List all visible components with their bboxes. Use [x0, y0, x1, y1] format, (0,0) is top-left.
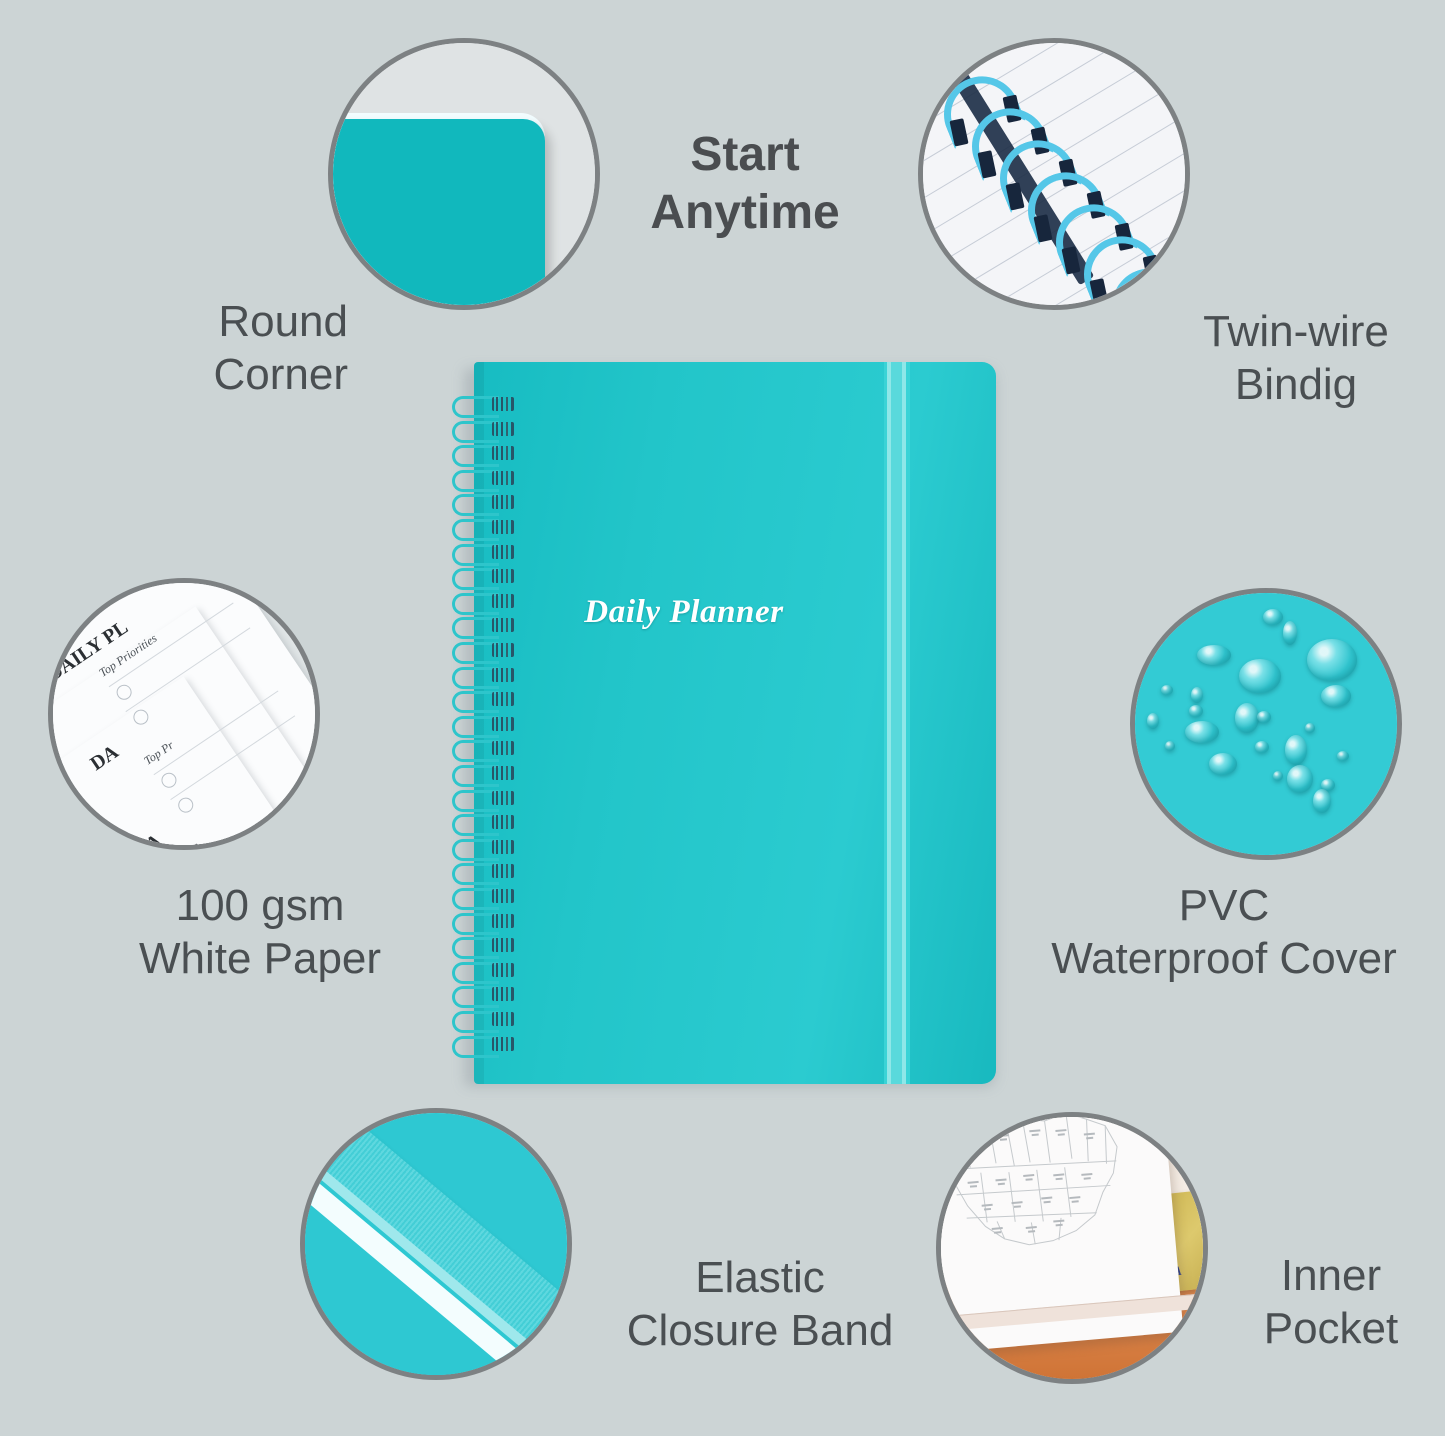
coil-crimp	[492, 495, 514, 509]
spiral-coil-ring	[452, 740, 512, 756]
round-corner-icon	[328, 38, 600, 310]
coil-crimp	[492, 446, 514, 460]
us-map-illustration	[936, 1112, 1138, 1270]
spiral-coil-ring	[452, 568, 512, 584]
spiral-coil-ring	[452, 421, 512, 437]
spiral-coil-ring	[452, 986, 512, 1002]
water-droplet	[1185, 721, 1219, 743]
water-droplet	[1239, 659, 1281, 693]
coil-crimp	[492, 938, 514, 952]
water-droplet	[1287, 765, 1313, 793]
notebook-spiral-binding	[452, 396, 516, 1062]
sheet-subheading: Top Pr	[141, 738, 176, 769]
water-droplet	[1165, 741, 1175, 751]
spiral-coil-ring	[452, 494, 512, 510]
spiral-coil-ring	[452, 716, 512, 732]
coil-crimp	[492, 766, 514, 780]
spiral-coil-ring	[452, 937, 512, 953]
coil-crimp	[492, 569, 514, 583]
coil-crimp	[492, 963, 514, 977]
coil-crimp	[492, 791, 514, 805]
coil-crimp	[492, 668, 514, 682]
coil-crimp	[492, 422, 514, 436]
waterproof-backdrop	[1135, 593, 1397, 855]
coil-crimp	[492, 520, 514, 534]
coil-crimp	[492, 840, 514, 854]
daily-planner-notebook: Daily Planner	[452, 362, 996, 1087]
stacked-paper-icon: DAILY PL Top Priorities DA Top Pr DA op	[48, 578, 320, 850]
water-droplet	[1197, 645, 1231, 665]
coil-crimp	[492, 618, 514, 632]
water-droplet	[1209, 753, 1237, 775]
notebook-elastic-band	[884, 362, 910, 1084]
water-droplets-icon	[1130, 588, 1402, 860]
spiral-coil-ring	[452, 913, 512, 929]
spiral-coil-ring	[452, 839, 512, 855]
spiral-coil-ring	[452, 863, 512, 879]
round-corner-cover-swatch	[328, 119, 545, 310]
coil-crimp	[492, 643, 514, 657]
spiral-coil-ring	[452, 1036, 512, 1052]
coil-crimp	[492, 987, 514, 1001]
coil-crimp	[492, 741, 514, 755]
spiral-coil-ring	[452, 667, 512, 683]
sheet-subheading: op	[184, 838, 202, 850]
headline-start-anytime: Start Anytime	[585, 126, 905, 241]
spiral-coil-ring	[452, 544, 512, 560]
coil-crimp	[492, 889, 514, 903]
water-droplet	[1273, 771, 1283, 781]
coil-crimp	[492, 1012, 514, 1026]
water-droplet	[1191, 687, 1203, 703]
product-infographic: DAILY PL Top Priorities DA Top Pr DA op	[0, 0, 1445, 1436]
coil-crimp	[492, 471, 514, 485]
water-droplet	[1257, 711, 1271, 723]
coil-crimp	[492, 717, 514, 731]
inner-pocket-icon: VISA	[936, 1112, 1208, 1384]
coil-crimp	[492, 864, 514, 878]
feature-label-paper-weight: 100 gsm White Paper	[90, 880, 430, 986]
coil-crimp	[492, 545, 514, 559]
water-droplet	[1255, 741, 1269, 753]
spiral-coil-ring	[452, 445, 512, 461]
water-droplet	[1313, 789, 1331, 813]
spiral-coil-ring	[452, 617, 512, 633]
notebook-cover	[474, 362, 996, 1084]
spiral-coil-ring	[452, 962, 512, 978]
elastic-band-icon	[300, 1108, 572, 1380]
spiral-coil-ring	[452, 470, 512, 486]
water-droplet	[1285, 735, 1307, 765]
spiral-coil-ring	[452, 814, 512, 830]
spiral-coil-ring	[452, 888, 512, 904]
spiral-coil-ring	[452, 396, 512, 412]
coil-crimp	[492, 397, 514, 411]
notebook-cover-title: Daily Planner	[452, 594, 916, 631]
water-droplet	[1321, 685, 1351, 707]
water-droplet	[1235, 703, 1259, 733]
spiral-coil-ring	[452, 642, 512, 658]
coil-crimp	[492, 692, 514, 706]
spiral-coil-ring	[452, 691, 512, 707]
feature-label-round-corner: Round Corner	[88, 296, 348, 402]
coil-crimp	[492, 594, 514, 608]
water-droplet	[1263, 609, 1283, 625]
spiral-coil-ring	[452, 593, 512, 609]
feature-label-elastic-closure-band: Elastic Closure Band	[595, 1252, 925, 1358]
feature-label-waterproof-cover: PVC Waterproof Cover	[1006, 880, 1442, 986]
sheet-heading: DA	[86, 741, 123, 776]
water-droplet	[1147, 713, 1159, 729]
coil-crimp	[492, 815, 514, 829]
water-droplet	[1283, 621, 1297, 645]
spiral-coil-ring	[452, 1011, 512, 1027]
water-droplet	[1337, 751, 1349, 761]
water-droplet	[1161, 685, 1173, 695]
spiral-binding-icon	[918, 38, 1190, 310]
coil-crimp	[492, 914, 514, 928]
water-droplet	[1307, 639, 1357, 681]
spiral-coil-ring	[452, 765, 512, 781]
spiral-coil-ring	[452, 790, 512, 806]
water-droplet	[1305, 723, 1315, 733]
water-droplet	[1189, 705, 1203, 717]
feature-label-twin-wire-binding: Twin-wire Bindig	[1146, 306, 1445, 412]
spiral-coil-ring	[452, 519, 512, 535]
coil-crimp	[492, 1037, 514, 1051]
feature-label-inner-pocket: Inner Pocket	[1216, 1250, 1445, 1356]
